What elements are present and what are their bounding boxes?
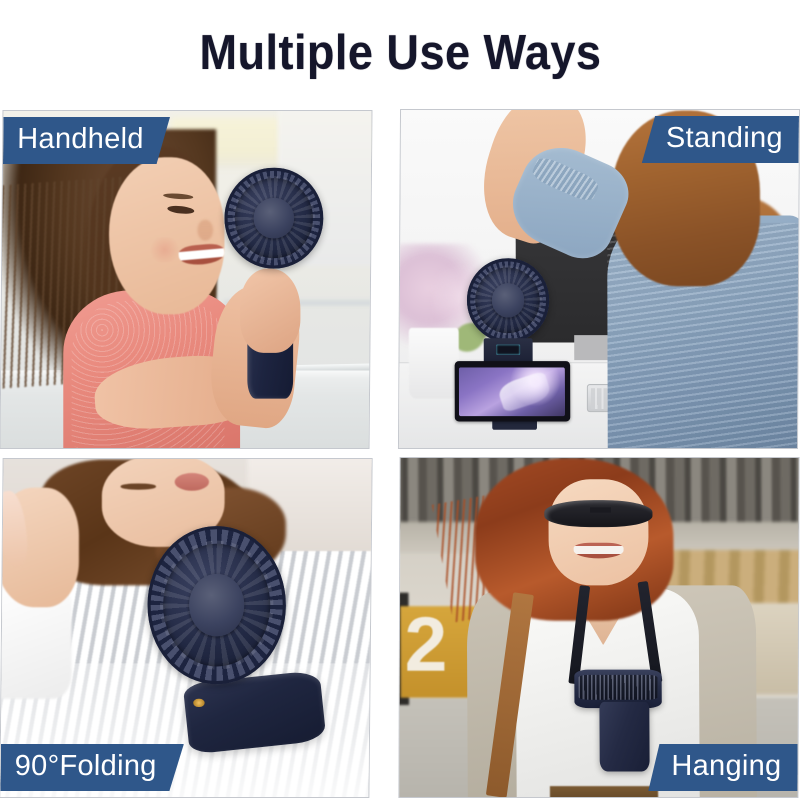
fan-grille-icon <box>224 167 323 269</box>
woman-face <box>549 479 649 585</box>
girl-cheek <box>148 237 182 262</box>
flower-vase <box>409 328 459 398</box>
use-ways-grid: Handheld <box>0 108 800 800</box>
fan-blade-blur <box>474 265 542 334</box>
folded-fan-head <box>148 526 286 684</box>
panel-handheld[interactable]: Handheld <box>1 111 372 448</box>
page-title: Multiple Use Ways <box>199 25 601 81</box>
panel-hanging[interactable]: 2 Hanging <box>399 458 798 797</box>
panel-folding[interactable]: 90°Folding <box>0 459 371 797</box>
badge-handheld: Handheld <box>3 117 170 164</box>
girl-nose <box>197 220 212 241</box>
sunglasses-bridge <box>590 508 611 513</box>
fan-display-screen <box>496 344 521 355</box>
sleeping-woman-brow <box>121 484 155 490</box>
fan-blade-blur <box>233 176 315 259</box>
fan-grille-icon <box>148 526 286 684</box>
standing-fan-head <box>466 258 549 342</box>
badge-folding: 90°Folding <box>0 744 183 791</box>
badge-hanging: Hanging <box>648 744 797 791</box>
panel-standing[interactable]: Standing <box>399 110 799 448</box>
belt <box>550 786 658 797</box>
fan-grille-icon <box>466 258 549 342</box>
badge-standing: Standing <box>642 116 799 163</box>
neck-fan-body <box>599 702 649 773</box>
girl-hand-grip <box>240 269 301 353</box>
page-title-bar: Multiple Use Ways <box>0 0 800 106</box>
sunglasses-icon <box>545 501 653 527</box>
handheld-fan-head <box>224 167 323 269</box>
fan-blade-blur <box>160 540 273 670</box>
neck-fan-grille <box>579 675 658 700</box>
